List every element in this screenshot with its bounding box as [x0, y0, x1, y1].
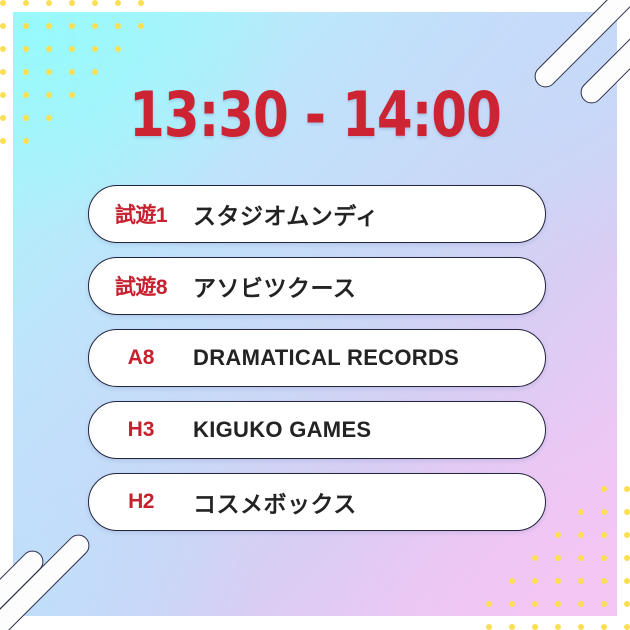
list-item-code: 試遊8 — [89, 271, 193, 301]
list-item-name: KIGUKO GAMES — [193, 417, 371, 443]
dot-icon — [69, 0, 75, 6]
dot-icon — [486, 624, 492, 630]
exhibitor-list: 試遊1スタジオムンディ試遊8アソビツクースA8DRAMATICAL RECORD… — [88, 185, 546, 531]
dot-icon — [624, 578, 630, 584]
list-item-code: 試遊1 — [89, 199, 193, 229]
dot-icon — [624, 486, 630, 492]
dot-icon — [138, 0, 144, 6]
list-item-code: H3 — [89, 418, 193, 442]
dot-icon — [578, 624, 584, 630]
dot-icon — [0, 0, 6, 6]
time-range-title: 13:30 - 14:00 — [25, 84, 605, 146]
dot-icon — [624, 555, 630, 561]
dot-icon — [0, 92, 6, 98]
list-item-code: H2 — [89, 490, 193, 514]
dot-icon — [92, 0, 98, 6]
list-item[interactable]: 試遊8アソビツクース — [88, 257, 546, 315]
dot-icon — [0, 46, 6, 52]
dot-icon — [0, 115, 6, 121]
dot-icon — [23, 0, 29, 6]
list-item[interactable]: A8DRAMATICAL RECORDS — [88, 329, 546, 387]
dot-icon — [0, 23, 6, 29]
list-item-name: アソビツクース — [193, 269, 356, 303]
dot-icon — [0, 69, 6, 75]
dot-icon — [555, 624, 561, 630]
dot-icon — [624, 532, 630, 538]
dot-icon — [115, 0, 121, 6]
list-item[interactable]: H3KIGUKO GAMES — [88, 401, 546, 459]
dot-icon — [624, 601, 630, 607]
dot-icon — [0, 138, 6, 144]
dot-icon — [624, 509, 630, 515]
dot-icon — [624, 624, 630, 630]
list-item[interactable]: H2コスメボックス — [88, 473, 546, 531]
dot-icon — [46, 0, 52, 6]
dot-icon — [601, 624, 607, 630]
list-item-name: コスメボックス — [193, 485, 357, 519]
list-item-code: A8 — [89, 346, 193, 370]
list-item-name: スタジオムンディ — [193, 197, 379, 231]
list-item[interactable]: 試遊1スタジオムンディ — [88, 185, 546, 243]
list-item-name: DRAMATICAL RECORDS — [193, 345, 459, 371]
dot-icon — [509, 624, 515, 630]
dot-icon — [532, 624, 538, 630]
schedule-card: 13:30 - 14:00 試遊1スタジオムンディ試遊8アソビツクースA8DRA… — [0, 0, 630, 630]
